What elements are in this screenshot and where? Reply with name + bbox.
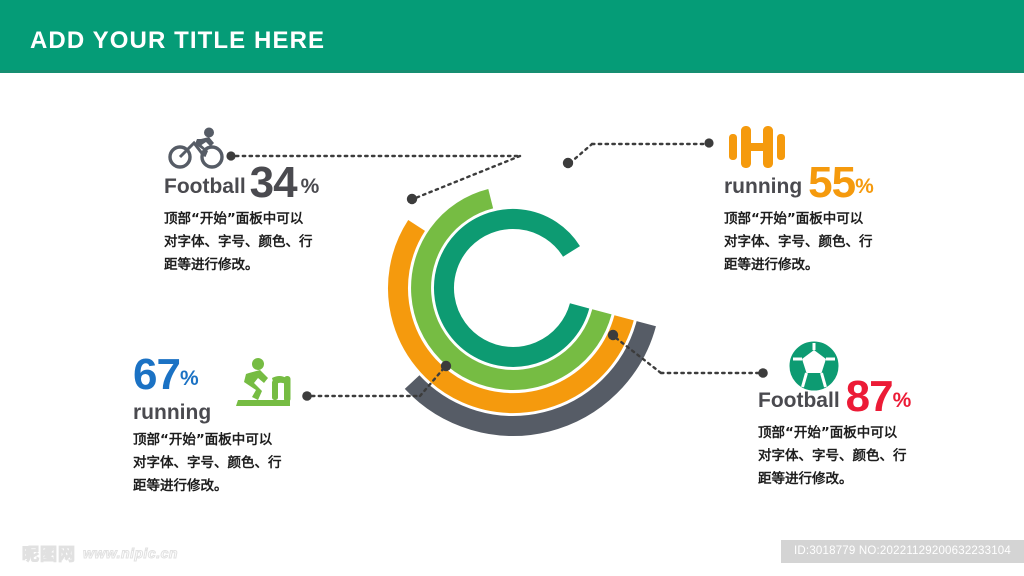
slide-canvas: ADD YOUR TITLE HERE <box>0 0 1024 576</box>
stat-headline-top-left: Football 34 % <box>164 164 364 202</box>
watermark-site-name: 昵图网 <box>22 540 76 565</box>
percent-sign: % <box>301 176 320 202</box>
category-label: Football <box>164 176 246 202</box>
category-label: running <box>133 402 343 423</box>
watermark-url: www.nipic.cn <box>83 545 178 561</box>
percent-sign: % <box>855 176 874 202</box>
percent-sign: % <box>893 390 912 416</box>
stat-block-bottom-right[interactable]: Football 87 % 顶部“开始”面板中可以 对字体、字号、颜色、行 距等… <box>758 378 978 491</box>
stat-block-bottom-left[interactable]: 67 % running 顶部“开始”面板中可以 对字体、字号、颜色、行 距等进… <box>133 356 343 498</box>
percent-value: 34 <box>250 164 297 202</box>
connector-top-right <box>563 138 714 168</box>
description-text: 顶部“开始”面板中可以 对字体、字号、颜色、行 距等进行修改。 <box>133 429 343 499</box>
percent-value: 67 <box>133 356 180 394</box>
stat-block-top-left[interactable]: Football 34 % 顶部“开始”面板中可以 对字体、字号、颜色、行 距等… <box>164 164 364 277</box>
description-text: 顶部“开始”面板中可以 对字体、字号、颜色、行 距等进行修改。 <box>164 208 364 278</box>
asset-id-bar: ID:3018779 NO:20221129200632233104 <box>781 540 1024 563</box>
watermark: 昵图网 www.nipic.cn <box>22 540 178 565</box>
stat-headline-top-right: running 55 % <box>724 164 944 202</box>
percent-value: 87 <box>846 378 893 416</box>
category-label: running <box>724 176 802 202</box>
description-text: 顶部“开始”面板中可以 对字体、字号、颜色、行 距等进行修改。 <box>724 208 944 278</box>
stat-block-top-right[interactable]: running 55 % 顶部“开始”面板中可以 对字体、字号、颜色、行 距等进… <box>724 164 944 277</box>
stat-headline-bottom-left: 67 % <box>133 356 343 394</box>
arc-ring-inner-football-87 <box>444 219 580 357</box>
description-text: 顶部“开始”面板中可以 对字体、字号、颜色、行 距等进行修改。 <box>758 422 978 492</box>
category-label: Football <box>758 390 840 416</box>
stat-headline-bottom-right: Football 87 % <box>758 378 978 416</box>
percent-sign: % <box>180 368 199 394</box>
percent-value: 55 <box>808 164 855 202</box>
